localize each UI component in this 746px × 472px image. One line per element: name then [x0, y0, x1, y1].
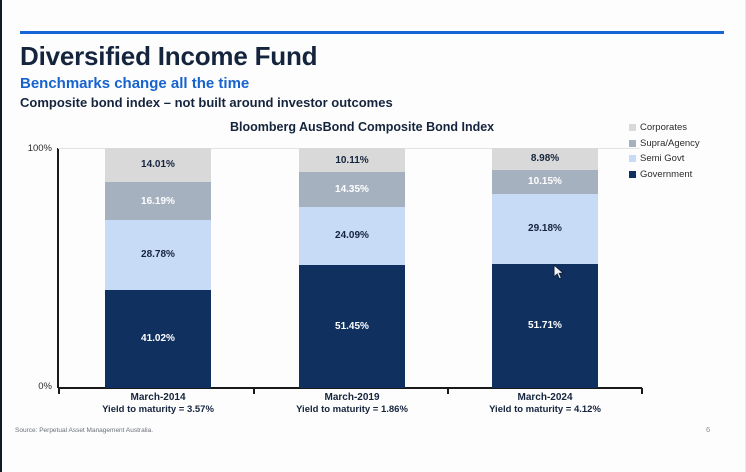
legend-swatch-icon: [629, 155, 636, 162]
bar-segment-government[interactable]: 51.71%: [492, 264, 598, 388]
mouse-cursor-icon: [553, 264, 565, 281]
legend-swatch-icon: [629, 124, 636, 131]
category-name: March-2019: [257, 392, 447, 403]
y-axis-tick-0: 0%: [18, 381, 52, 392]
x-axis-category-march-2014: March-2014 Yield to maturity = 3.57%: [63, 392, 253, 415]
x-axis-tick-1: [253, 388, 255, 394]
x-axis-tick-end: [641, 388, 643, 394]
header-rule: [20, 31, 724, 34]
bar-march-2014[interactable]: 14.01% 16.19% 28.78% 41.02%: [105, 148, 211, 388]
x-axis-tick-start: [58, 388, 60, 394]
x-axis-category-march-2019: March-2019 Yield to maturity = 1.86%: [257, 392, 447, 415]
bar-segment-semi-govt[interactable]: 24.09%: [299, 207, 405, 265]
bar-segment-government[interactable]: 41.02%: [105, 290, 211, 388]
source-note: Source: Perpetual Asset Management Austr…: [15, 427, 153, 434]
legend-label: Corporates: [640, 122, 687, 133]
page-subtitle-secondary: Composite bond index – not built around …: [20, 95, 393, 110]
bar-segment-corporates[interactable]: 8.98%: [492, 148, 598, 170]
legend-swatch-icon: [629, 171, 636, 178]
page-subtitle: Benchmarks change all the time: [20, 75, 249, 92]
legend-item-government[interactable]: Government: [629, 167, 741, 183]
page-number: 6: [706, 425, 710, 434]
legend-item-corporates[interactable]: Corporates: [629, 120, 741, 136]
x-axis-tick-2: [447, 388, 449, 394]
bar-segment-semi-govt[interactable]: 29.18%: [492, 194, 598, 264]
chart-legend: Corporates Supra/Agency Semi Govt Govern…: [629, 120, 741, 182]
chart-title: Bloomberg AusBond Composite Bond Index: [230, 120, 494, 134]
category-yield: Yield to maturity = 3.57%: [63, 404, 253, 415]
category-name: March-2024: [450, 392, 640, 403]
legend-label: Government: [640, 169, 692, 180]
y-axis-tick-100: 100%: [18, 143, 52, 154]
bar-march-2024[interactable]: 8.98% 10.15% 29.18% 51.71%: [492, 148, 598, 388]
bar-segment-semi-govt[interactable]: 28.78%: [105, 220, 211, 289]
bar-segment-corporates[interactable]: 10.11%: [299, 148, 405, 172]
category-yield: Yield to maturity = 4.12%: [450, 404, 640, 415]
legend-label: Semi Govt: [640, 153, 684, 164]
slide-canvas: Diversified Income Fund Benchmarks chang…: [0, 0, 746, 472]
x-axis-category-march-2024: March-2024 Yield to maturity = 4.12%: [450, 392, 640, 415]
category-name: March-2014: [63, 392, 253, 403]
legend-item-semi-govt[interactable]: Semi Govt: [629, 151, 741, 167]
bar-segment-supra-agency[interactable]: 10.15%: [492, 170, 598, 194]
bar-segment-corporates[interactable]: 14.01%: [105, 148, 211, 182]
bar-segment-government[interactable]: 51.45%: [299, 265, 405, 388]
legend-item-supra-agency[interactable]: Supra/Agency: [629, 136, 741, 152]
bar-segment-supra-agency[interactable]: 16.19%: [105, 182, 211, 221]
legend-label: Supra/Agency: [640, 138, 700, 149]
slide-left-edge: [0, 0, 2, 472]
bar-segment-supra-agency[interactable]: 14.35%: [299, 172, 405, 206]
page-title: Diversified Income Fund: [20, 41, 317, 72]
bar-march-2019[interactable]: 10.11% 14.35% 24.09% 51.45%: [299, 148, 405, 388]
category-yield: Yield to maturity = 1.86%: [257, 404, 447, 415]
legend-swatch-icon: [629, 140, 636, 147]
